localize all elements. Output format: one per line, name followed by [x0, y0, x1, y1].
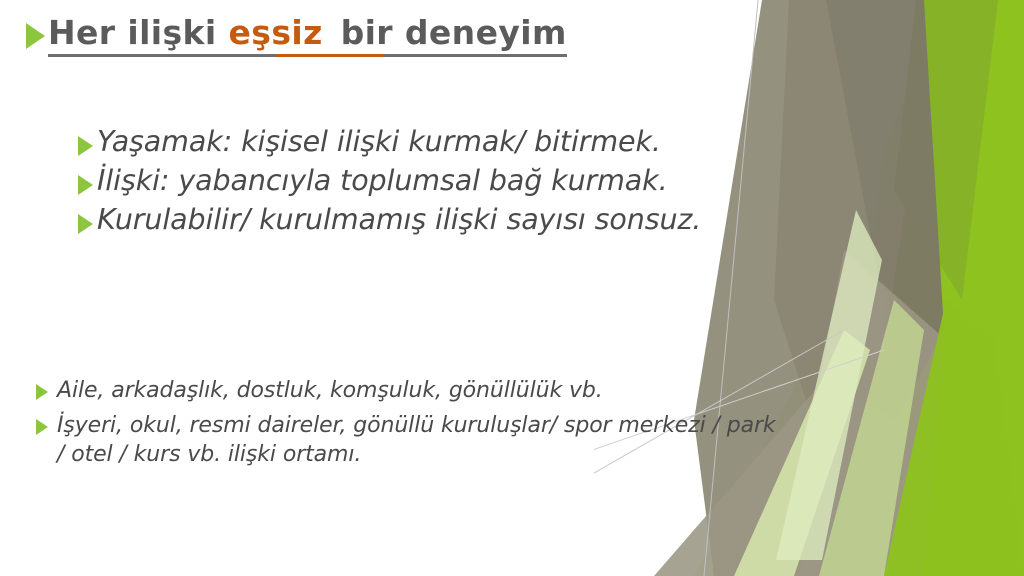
- slide-title: Her ilişki eşsiz bir deneyim: [26, 14, 567, 57]
- title-underline-orange: [276, 54, 384, 57]
- title-text: Her ilişki eşsiz bir deneyim: [48, 14, 567, 57]
- level1-bullet-list: Aile, arkadaşlık, dostluk, komşuluk, gön…: [36, 376, 836, 475]
- list-item: Aile, arkadaşlık, dostluk, komşuluk, gön…: [36, 376, 836, 405]
- level2-bullet-text: Kurulabilir/ kurulmamış ilişki sayısı so…: [97, 202, 701, 239]
- triangle-right-icon: [36, 419, 48, 435]
- title-prefix: Her ilişki: [48, 13, 229, 52]
- level1-bullet-text: Aile, arkadaşlık, dostluk, komşuluk, gön…: [57, 376, 603, 405]
- level1-bullet-text: İşyeri, okul, resmi daireler, gönüllü ku…: [57, 411, 789, 469]
- list-item: Yaşamak: kişisel ilişki kurmak/ bitirmek…: [78, 124, 838, 161]
- title-suffix: bir deneyim: [329, 13, 567, 52]
- list-item: İlişki: yabancıyla toplumsal bağ kurmak.: [78, 163, 838, 200]
- triangle-right-icon: [78, 214, 93, 234]
- level2-bullet-list: Yaşamak: kişisel ilişki kurmak/ bitirmek…: [78, 124, 838, 240]
- triangle-right-icon: [26, 23, 45, 49]
- list-item: İşyeri, okul, resmi daireler, gönüllü ku…: [36, 411, 836, 469]
- triangle-right-icon: [78, 175, 93, 195]
- triangle-right-icon: [78, 136, 93, 156]
- level2-bullet-text: Yaşamak: kişisel ilişki kurmak/ bitirmek…: [97, 124, 661, 161]
- level2-bullet-text: İlişki: yabancıyla toplumsal bağ kurmak.: [97, 163, 668, 200]
- slide: Her ilişki eşsiz bir deneyim Yaşamak: ki…: [0, 0, 1024, 576]
- triangle-right-icon: [36, 384, 48, 400]
- list-item: Kurulabilir/ kurulmamış ilişki sayısı so…: [78, 202, 838, 239]
- title-highlight: eşsiz: [229, 13, 323, 52]
- slide-content: Her ilişki eşsiz bir deneyim Yaşamak: ki…: [0, 0, 1024, 576]
